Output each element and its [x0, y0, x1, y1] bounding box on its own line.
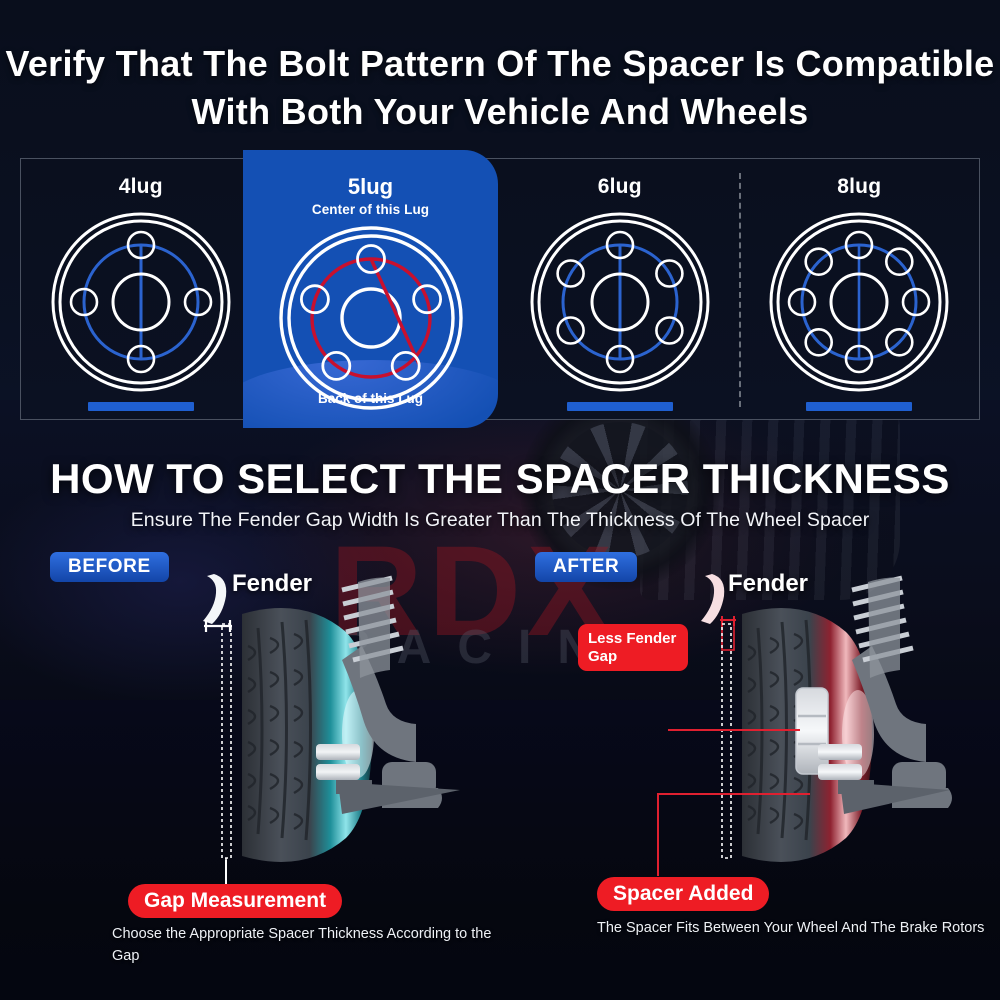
gap-measurement-callout: Gap Measurement — [128, 884, 342, 918]
gap-ruler — [204, 620, 232, 888]
before-badge: BEFORE — [50, 552, 169, 582]
less-fender-gap-callout: Less Fender Gap — [578, 624, 688, 671]
lug-panel-5lug-highlight-card[interactable]: 5lug Center of this Lug Back of this Lug — [243, 150, 498, 428]
bolt-pattern-diagram-5lug — [273, 220, 469, 416]
section-title-thickness: HOW TO SELECT THE SPACER THICKNESS — [0, 455, 1000, 503]
bolt-pattern-diagram-8lug — [764, 207, 954, 397]
lug-annotation-center-label: Center of this Lug — [243, 202, 498, 217]
lug-panel-4lug[interactable]: 4lug — [21, 159, 261, 419]
before-wheel-illustration — [186, 566, 516, 896]
after-caption: The Spacer Fits Between Your Wheel And T… — [597, 918, 997, 940]
lug-panel-6lug-underline — [567, 402, 673, 411]
infographic-root: RDX RACING Verify That The Bolt Pattern … — [0, 0, 1000, 1000]
lug-panel-6lug[interactable]: 6lug — [500, 159, 740, 419]
lug-panel-8lug[interactable]: 8lug — [740, 159, 980, 419]
after-badge: AFTER — [535, 552, 637, 582]
bolt-pattern-diagram-4lug — [46, 207, 236, 397]
fender-label-before: Fender — [232, 570, 312, 598]
section-subtitle-thickness: Ensure The Fender Gap Width Is Greater T… — [0, 509, 1000, 532]
fender-label-after: Fender — [728, 570, 808, 598]
before-caption: Choose the Appropriate Spacer Thickness … — [112, 924, 512, 968]
lug-panel-8lug-title: 8lug — [740, 175, 980, 199]
lug-panel-4lug-title: 4lug — [21, 175, 261, 199]
lug-annotation-back-label: Back of this Lug — [243, 391, 498, 406]
spacer-added-callout: Spacer Added — [597, 877, 769, 911]
bolt-pattern-panel-strip: 4lug 6lug — [20, 158, 980, 420]
spacer-added-pointer — [640, 700, 840, 880]
fender-hook-shape — [701, 574, 724, 624]
fender-hook-shape — [203, 574, 226, 624]
lug-panel-5lug-title: 5lug — [243, 174, 498, 200]
lug-panel-4lug-underline — [88, 402, 194, 411]
lug-panel-8lug-underline — [806, 402, 912, 411]
bolt-pattern-diagram-6lug — [525, 207, 715, 397]
main-headline: Verify That The Bolt Pattern Of The Spac… — [0, 40, 1000, 135]
lug-panel-6lug-title: 6lug — [500, 175, 740, 199]
